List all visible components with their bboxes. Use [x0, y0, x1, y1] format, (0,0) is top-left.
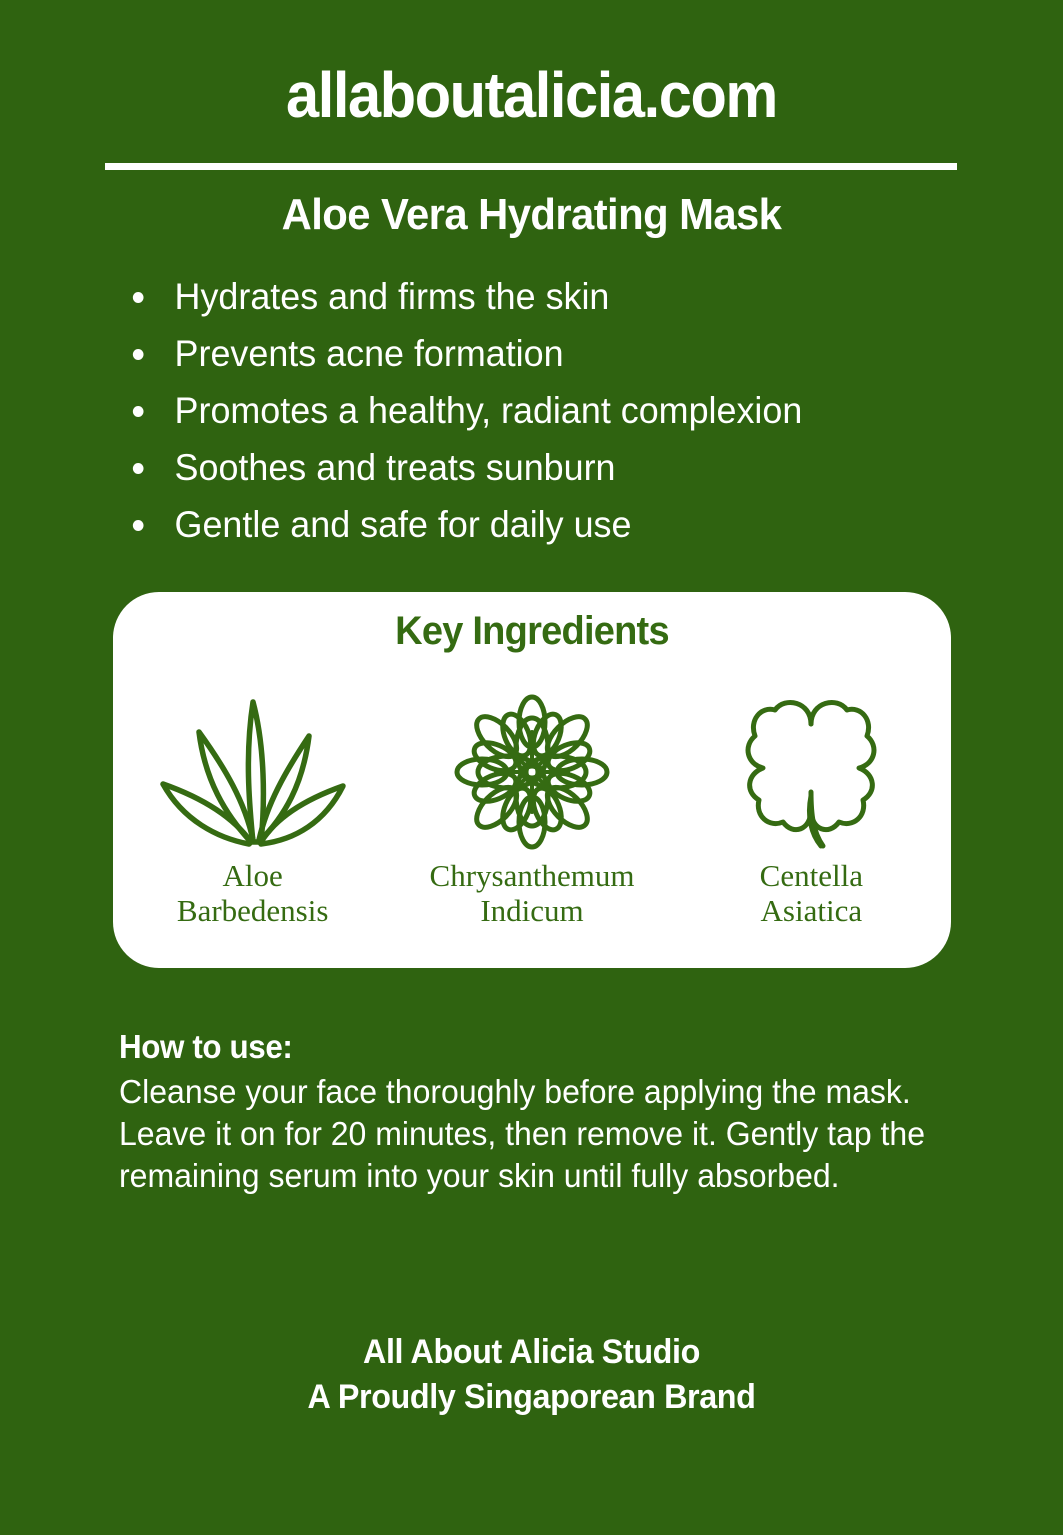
benefit-list-item: Prevents acne formation: [128, 325, 962, 382]
key-ingredients-card: Key Ingredients Aloe Barbedensis: [113, 592, 951, 968]
ingredient-centella-asiatica: Centella Asiatica: [686, 692, 936, 928]
header-divider-rule: [105, 163, 957, 170]
brand-tagline: A Proudly Singaporean Brand: [27, 1375, 1037, 1420]
ingredient-chrysanthemum-indicum: Chrysanthemum Indicum: [407, 692, 657, 928]
brand-website-url: allaboutalicia.com: [37, 58, 1026, 132]
ingredient-label: Centella Asiatica: [760, 858, 863, 928]
aloe-plant-icon: [153, 692, 353, 852]
how-to-use-heading: How to use:: [119, 1028, 936, 1066]
footer: All About Alicia Studio A Proudly Singap…: [0, 1330, 1063, 1420]
benefit-list-item: Hydrates and firms the skin: [128, 268, 962, 325]
centella-clover-leaf-icon: [741, 692, 881, 852]
studio-name: All About Alicia Studio: [27, 1330, 1037, 1375]
ingredient-label: Chrysanthemum Indicum: [430, 858, 635, 928]
ingredient-aloe-barbedensis: Aloe Barbedensis: [128, 692, 378, 928]
how-to-use-instructions: Cleanse your face thoroughly before appl…: [119, 1071, 926, 1197]
benefit-list-item: Promotes a healthy, radiant complexion: [128, 382, 962, 439]
chrysanthemum-flower-icon: [452, 692, 612, 852]
product-title: Aloe Vera Hydrating Mask: [27, 190, 1037, 240]
how-to-use-section: How to use: Cleanse your face thoroughly…: [119, 1028, 979, 1197]
product-poster: allaboutalicia.com Aloe Vera Hydrating M…: [0, 0, 1063, 1535]
ingredient-label: Aloe Barbedensis: [177, 858, 329, 928]
ingredients-row: Aloe Barbedensis: [113, 692, 951, 928]
benefit-list-item: Gentle and safe for daily use: [128, 496, 962, 553]
benefit-list-item: Soothes and treats sunburn: [128, 439, 962, 496]
benefits-list: Hydrates and firms the skin Prevents acn…: [128, 268, 988, 553]
key-ingredients-title: Key Ingredients: [134, 609, 930, 654]
